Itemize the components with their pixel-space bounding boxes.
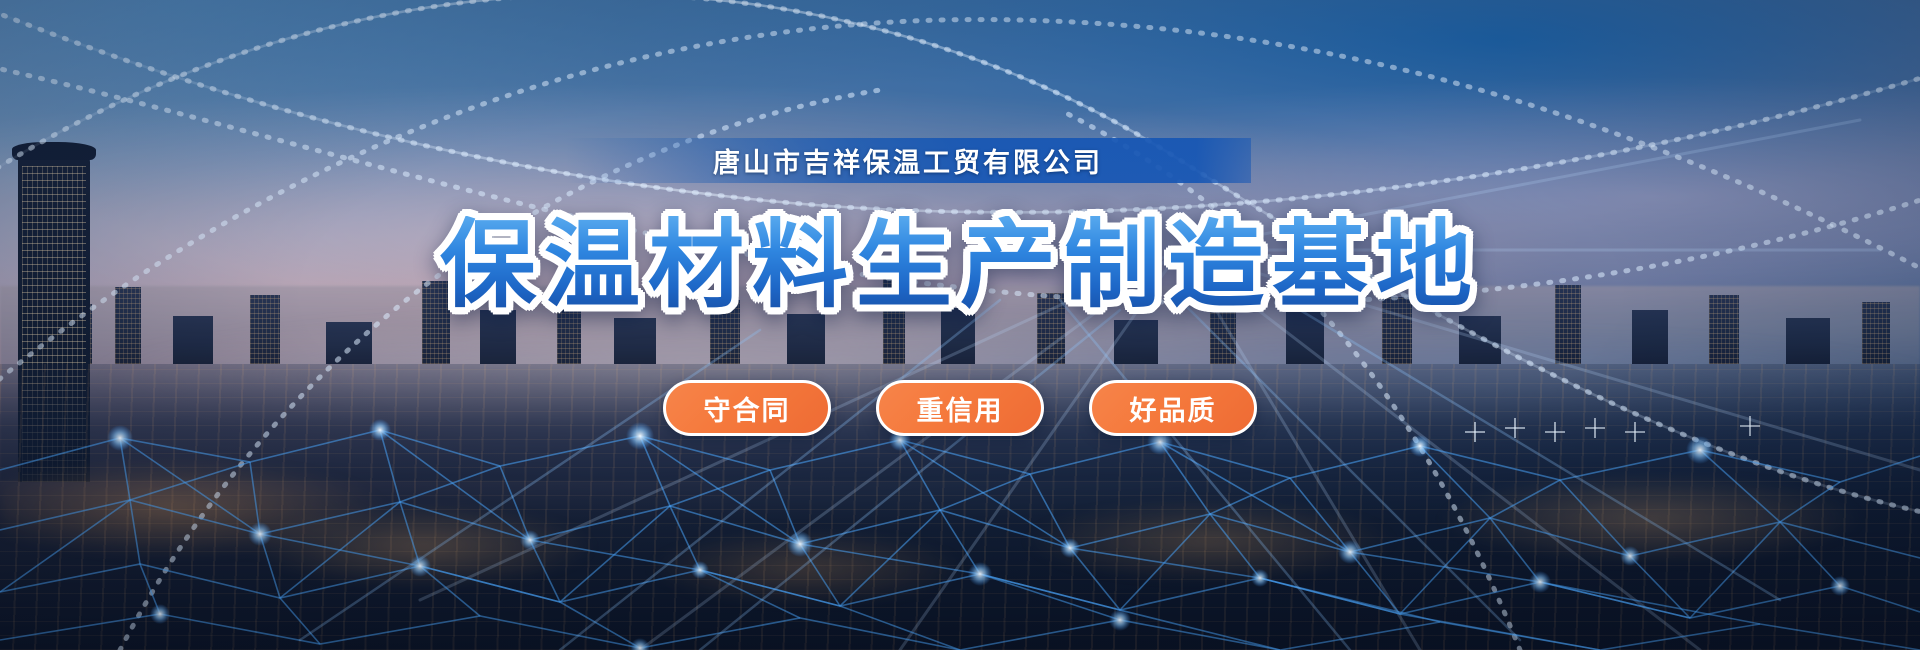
badge-label: 好品质 [1130, 389, 1217, 428]
badge-zhong-xin-yong[interactable]: 重信用 [876, 380, 1044, 436]
hero-banner: 唐山市吉祥保温工贸有限公司 保温材料生产制造基地 守合同 重信用 好品质 [0, 0, 1920, 650]
badge-label: 重信用 [917, 389, 1004, 428]
badge-row: 守合同 重信用 好品质 [0, 380, 1920, 436]
badge-shou-he-tong[interactable]: 守合同 [663, 380, 831, 436]
badge-hao-pin-zhi[interactable]: 好品质 [1089, 380, 1257, 436]
hero-headline: 保温材料生产制造基地 [0, 216, 1920, 317]
company-name: 唐山市吉祥保温工贸有限公司 [713, 141, 1103, 180]
company-name-strip: 唐山市吉祥保温工贸有限公司 [565, 138, 1251, 183]
badge-label: 守合同 [704, 389, 791, 428]
